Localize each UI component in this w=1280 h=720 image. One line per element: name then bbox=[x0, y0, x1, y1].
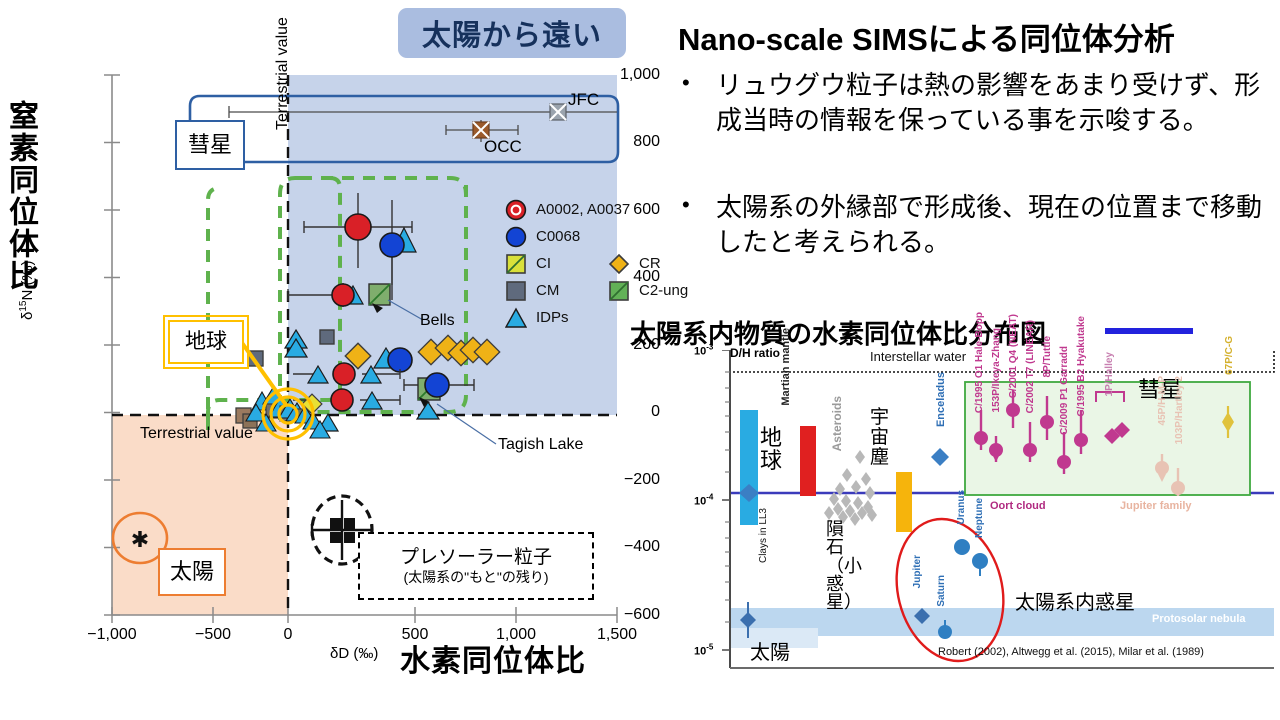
dh-y-tick: 10-3 bbox=[694, 343, 713, 358]
slide-title: Nano-scale SIMSによる同位体分析 bbox=[678, 14, 1175, 59]
legend-label: C0068 bbox=[536, 228, 580, 245]
oort-comet-label: 153P/Ikeya-Zhang bbox=[991, 328, 1002, 412]
dh-ratio-axis-label: D/H ratio bbox=[730, 346, 780, 360]
y-tick-label: −200 bbox=[564, 471, 660, 489]
bullet-marker: • bbox=[682, 190, 716, 260]
martian-mantle-bar bbox=[800, 426, 816, 496]
legend-item-c2ung: C2-ung bbox=[608, 277, 688, 304]
martian-mantle-label: Martian mantle bbox=[780, 328, 792, 406]
bullet-item: • リュウグウ粒子は熱の影響をあまり受けず、形成当時の情報を保っている事を示唆す… bbox=[682, 68, 1272, 138]
oort-comet-label: C/2001 Q4 (NEAT) bbox=[1008, 314, 1019, 398]
legend-label: CM bbox=[536, 282, 559, 299]
clays-in-ll3-label: Clays in LL3 bbox=[758, 508, 769, 563]
bullet-item: • 太陽系の外縁部で形成後、現在の位置まで移動したと考えられる。 bbox=[682, 190, 1272, 260]
enceladus-label: Enceladus bbox=[935, 372, 947, 427]
legend-label: A0002, A0037 bbox=[536, 201, 630, 218]
legend-label: C2-ung bbox=[639, 282, 688, 299]
occ-label: OCC bbox=[484, 137, 522, 157]
datapoint-c0068 bbox=[388, 348, 412, 372]
dh-y-tick: 10-5 bbox=[694, 643, 713, 658]
jfc-marker bbox=[550, 104, 566, 120]
y-tick-label: −600 bbox=[564, 606, 660, 624]
square-slash-icon bbox=[608, 280, 630, 302]
datapoint-c0068 bbox=[380, 233, 404, 257]
oort-comet-label: C/1995 O1 Hale-Bopp bbox=[974, 312, 985, 413]
earth-bar bbox=[740, 410, 758, 525]
x-tick-label: −500 bbox=[195, 626, 231, 644]
legend-label: CI bbox=[536, 255, 551, 272]
datapoint-cm bbox=[320, 330, 334, 344]
main-scatter-panel: 太陽から遠い 窒素同位体比 δ15N (‰) δD (‰) 水素同位体比 bbox=[0, 0, 660, 720]
uranus-label: Uranus bbox=[956, 490, 967, 524]
circle-icon bbox=[505, 226, 527, 248]
x-tick-label: −1,000 bbox=[87, 626, 136, 644]
comet-callout-box: 彗星 bbox=[175, 120, 245, 170]
y-tick-label: 0 bbox=[564, 403, 660, 421]
dh-ratio-chart: D/H ratio 10-3 10-4 10-5 Interstellar wa… bbox=[700, 350, 1276, 686]
datapoint-a0002 bbox=[332, 284, 354, 306]
sun-callout-box: 太陽 bbox=[158, 548, 226, 596]
diamond-icon bbox=[608, 253, 630, 275]
datapoint-a0002 bbox=[331, 389, 353, 411]
datapoint-a0002 bbox=[333, 363, 355, 385]
comet-67p-label: 67P/C-G bbox=[1224, 336, 1235, 375]
jupiter-label: Jupiter bbox=[912, 555, 923, 588]
svg-text:✱: ✱ bbox=[131, 528, 149, 553]
x-tick-label: 1,500 bbox=[597, 626, 637, 644]
saturn-label: Saturn bbox=[936, 575, 947, 607]
oort-comet-label: C/2002 T7 (LINEAR) bbox=[1025, 320, 1036, 413]
jfc-label: JFC bbox=[568, 90, 599, 110]
bullet-text: 太陽系の外縁部で形成後、現在の位置まで移動したと考えられる。 bbox=[716, 190, 1272, 260]
meteorite-label: 隕石（小惑星） bbox=[826, 520, 846, 612]
protosolar-nebula-label: Protosolar nebula bbox=[1152, 613, 1246, 625]
tagish-lake-label: Tagish Lake bbox=[498, 436, 583, 454]
dh-legend-line bbox=[1105, 328, 1193, 334]
oort-comet-label: C/1995 B2 Hyakutake bbox=[1076, 316, 1087, 417]
cosmic-dust-bar bbox=[896, 472, 912, 532]
jupiter-family-label: Jupiter family bbox=[1120, 500, 1192, 512]
jf-comet-label: 45P/H-M-P bbox=[1157, 376, 1168, 425]
oort-cloud-label: Oort cloud bbox=[990, 500, 1046, 512]
neptune-label: Neptune bbox=[974, 498, 985, 538]
cosmic-dust-label: 宇宙塵 bbox=[870, 408, 890, 468]
y-tick-label: 1,000 bbox=[564, 66, 660, 84]
legend-item-cr: CR bbox=[608, 250, 688, 277]
legend-item-c0068: C0068 bbox=[505, 223, 630, 250]
uranus-marker bbox=[954, 539, 970, 555]
earth-label: 地球 bbox=[760, 426, 782, 472]
legend-label: IDPs bbox=[536, 309, 569, 326]
jf-comet-label: 103P/Hartley 2 bbox=[1174, 376, 1185, 444]
x-tick-label: 0 bbox=[284, 626, 293, 644]
plot-legend-secondary: CR C2-ung bbox=[608, 250, 688, 304]
terrestrial-value-label: Terrestrial value bbox=[140, 425, 253, 443]
presolar-line1: プレソーラー粒子 bbox=[400, 547, 552, 569]
datapoint-a0002 bbox=[345, 214, 371, 240]
citation-text: Robert (2002), Altwegg et al. (2015), Mi… bbox=[938, 646, 1204, 658]
dh-y-tick: 10-4 bbox=[694, 493, 713, 508]
legend-item-a0002: A0002, A0037 bbox=[505, 196, 630, 223]
bullet-text: リュウグウ粒子は熱の影響をあまり受けず、形成当時の情報を保っている事を示唆する。 bbox=[716, 68, 1272, 138]
oort-comet-label: 1P/Halley bbox=[1104, 352, 1115, 396]
x-tick-label: 1,000 bbox=[496, 626, 536, 644]
square-icon bbox=[505, 280, 527, 302]
occ-marker bbox=[473, 122, 489, 138]
asteroids-label: Asteroids bbox=[830, 396, 844, 451]
y-tick-label: 800 bbox=[564, 133, 660, 151]
interstellar-water-band bbox=[730, 350, 1274, 372]
bells-label: Bells bbox=[420, 312, 455, 330]
square-slash-icon bbox=[505, 253, 527, 275]
bullet-marker: • bbox=[682, 68, 716, 138]
enceladus-marker bbox=[931, 448, 949, 466]
legend-label: CR bbox=[639, 255, 661, 272]
x-tick-label: 500 bbox=[402, 626, 429, 644]
oort-comet-label: C/2009 P1 Garradd bbox=[1059, 346, 1070, 435]
presolar-callout-box: プレソーラー粒子 (太陽系の"もと"の残り) bbox=[358, 532, 594, 600]
circle-ring-icon bbox=[505, 199, 527, 221]
inner-planets-label: 太陽系内惑星 bbox=[1015, 586, 1135, 615]
sun-label: 太陽 bbox=[750, 636, 790, 665]
legend-item-idps: IDPs bbox=[505, 304, 630, 331]
earth-callout-box: 地球 bbox=[168, 320, 244, 364]
interstellar-water-label: Interstellar water bbox=[870, 349, 966, 364]
triangle-icon bbox=[505, 307, 527, 329]
datapoint-c0068 bbox=[425, 373, 449, 397]
terrestrial-value-axis-label: Terrestrial value bbox=[274, 17, 292, 130]
scatter-plot: ✱ bbox=[0, 0, 660, 720]
oort-comet-label: 8P/Tuttle bbox=[1042, 336, 1053, 377]
presolar-line2: (太陽系の"もと"の残り) bbox=[404, 569, 549, 585]
